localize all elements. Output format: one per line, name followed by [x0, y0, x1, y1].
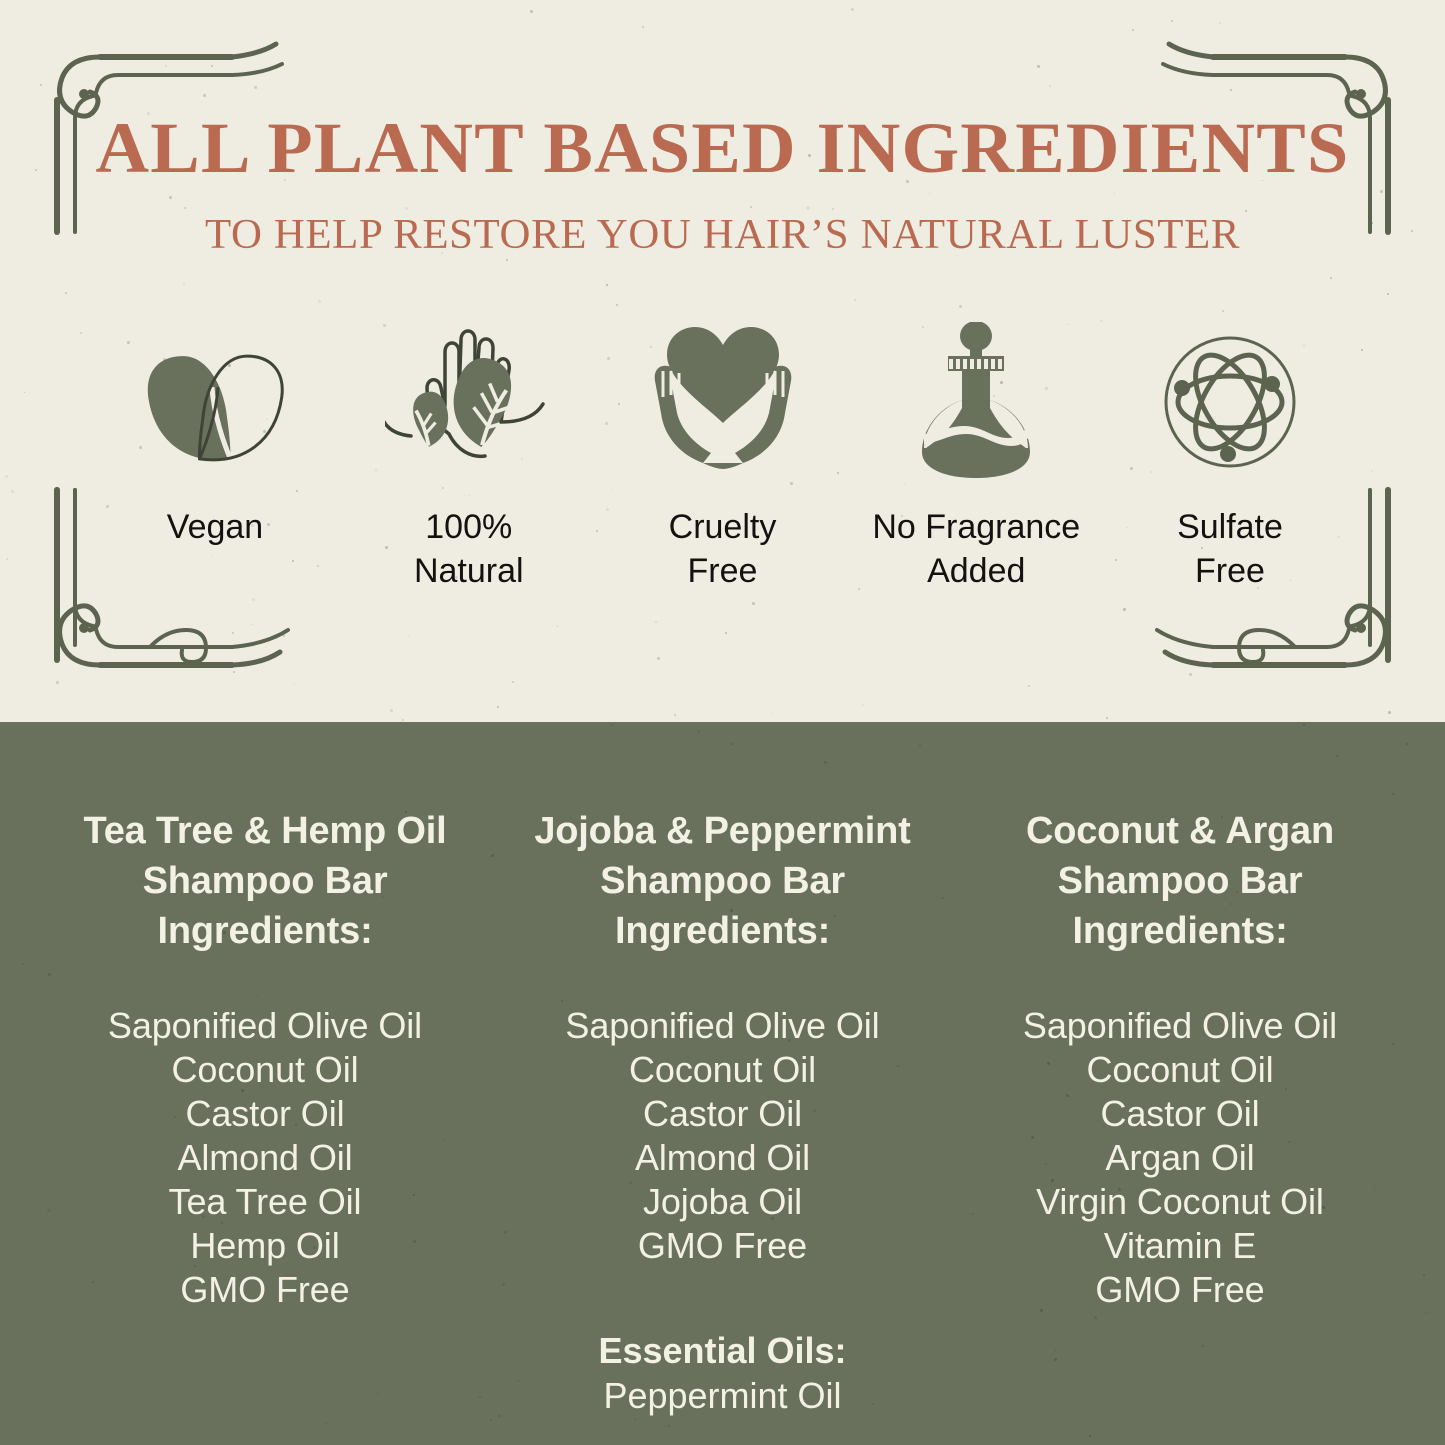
perfume-bottle-icon [906, 322, 1046, 482]
essential-oil-item: Peppermint Oil [508, 1373, 938, 1418]
page-subtitle: TO HELP RESTORE YOU HAIR’S NATURAL LUSTE… [0, 214, 1445, 256]
ingredient-item: Almond Oil [508, 1136, 938, 1180]
hand-leaves-icon [385, 322, 553, 482]
product-title: Tea Tree & Hemp OilShampoo BarIngredient… [50, 806, 480, 956]
ingredients-panel: Tea Tree & Hemp OilShampoo BarIngredient… [0, 722, 1445, 1445]
badge-row: Vegan [90, 322, 1355, 593]
essential-oils-block: Essential Oils: Peppermint Oil [508, 1328, 938, 1418]
ingredient-item: Vitamin E [965, 1224, 1395, 1268]
ingredient-item: Castor Oil [50, 1092, 480, 1136]
badge-sulfate-free: SulfateFree [1105, 322, 1355, 593]
badge-vegan: Vegan [90, 322, 340, 550]
ingredient-item: Saponified Olive Oil [50, 1004, 480, 1048]
badge-no-fragrance: No FragranceAdded [851, 322, 1101, 593]
ingredient-item: Tea Tree Oil [50, 1180, 480, 1224]
ingredient-item: Almond Oil [50, 1136, 480, 1180]
ingredient-item: Jojoba Oil [508, 1180, 938, 1224]
ingredient-item: Coconut Oil [50, 1048, 480, 1092]
badge-label: 100%Natural [414, 506, 524, 593]
ingredient-item: Coconut Oil [508, 1048, 938, 1092]
ingredient-item: Castor Oil [508, 1092, 938, 1136]
heart-in-hands-icon [637, 322, 809, 482]
ingredient-item: Saponified Olive Oil [508, 1004, 938, 1048]
badge-cruelty-free: CrueltyFree [598, 322, 848, 593]
atom-icon [1155, 322, 1305, 482]
badge-natural: 100%Natural [344, 322, 594, 593]
product-column: Jojoba & PeppermintShampoo BarIngredient… [508, 806, 938, 1418]
ingredient-item: Hemp Oil [50, 1224, 480, 1268]
essential-oils-list: Peppermint Oil [508, 1373, 938, 1418]
badge-label: Vegan [167, 506, 263, 550]
ingredient-item: GMO Free [508, 1224, 938, 1268]
top-cream-section: ALL PLANT BASED INGREDIENTS TO HELP REST… [0, 0, 1445, 722]
ingredient-item: Virgin Coconut Oil [965, 1180, 1395, 1224]
badge-label: SulfateFree [1177, 506, 1283, 593]
product-column: Tea Tree & Hemp OilShampoo BarIngredient… [50, 806, 480, 1312]
ingredients-poster: ALL PLANT BASED INGREDIENTS TO HELP REST… [0, 0, 1445, 1445]
header-block: ALL PLANT BASED INGREDIENTS TO HELP REST… [0, 112, 1445, 256]
ingredient-list: Saponified Olive OilCoconut OilCastor Oi… [50, 1004, 480, 1311]
product-column: Coconut & ArganShampoo BarIngredients: S… [965, 806, 1395, 1312]
ingredient-item: Coconut Oil [965, 1048, 1395, 1092]
product-title: Jojoba & PeppermintShampoo BarIngredient… [508, 806, 938, 956]
ingredient-list: Saponified Olive OilCoconut OilCastor Oi… [508, 1004, 938, 1267]
leaves-icon [131, 322, 299, 482]
product-columns: Tea Tree & Hemp OilShampoo BarIngredient… [50, 806, 1395, 1418]
ingredient-list: Saponified Olive OilCoconut OilCastor Oi… [965, 1004, 1395, 1311]
ingredient-item: GMO Free [50, 1268, 480, 1312]
product-title: Coconut & ArganShampoo BarIngredients: [965, 806, 1395, 956]
badge-label: CrueltyFree [669, 506, 777, 593]
essential-oils-title: Essential Oils: [508, 1328, 938, 1373]
ingredient-item: Argan Oil [965, 1136, 1395, 1180]
page-title: ALL PLANT BASED INGREDIENTS [0, 112, 1445, 184]
ingredient-item: Saponified Olive Oil [965, 1004, 1395, 1048]
badge-label: No FragranceAdded [872, 506, 1080, 593]
ingredient-item: Castor Oil [965, 1092, 1395, 1136]
ingredient-item: GMO Free [965, 1268, 1395, 1312]
